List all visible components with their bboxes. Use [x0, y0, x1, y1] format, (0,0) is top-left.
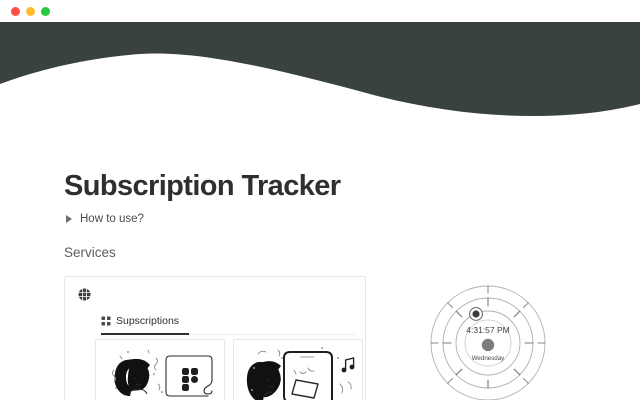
globe-icon	[77, 287, 92, 302]
clock-widget: 4:31:57 PM Wednesday	[408, 280, 568, 400]
clock-time-text: 4:31:57 PM	[466, 325, 509, 335]
figma-illustration	[96, 340, 224, 400]
service-embed-card: Supscriptions	[64, 276, 366, 400]
close-window-button[interactable]	[11, 7, 20, 16]
how-to-use-label: How to use?	[80, 213, 144, 225]
tab-bar-divider	[189, 334, 355, 335]
music-phone-illustration	[234, 340, 362, 400]
thumbnail-figma-illustration[interactable]	[95, 339, 225, 400]
how-to-use-toggle[interactable]: How to use?	[66, 213, 144, 225]
traffic-lights	[11, 7, 50, 16]
page-title: Subscription Tracker	[64, 170, 341, 203]
subscription-thumbnails	[95, 339, 363, 400]
window-titlebar	[0, 0, 640, 22]
clock-day-text: Wednesday	[472, 355, 505, 362]
section-heading-services: Services	[64, 245, 116, 260]
tab-supscriptions-label: Supscriptions	[116, 315, 179, 327]
thumbnail-music-phone-illustration[interactable]	[233, 339, 363, 400]
grid-icon	[101, 316, 111, 326]
page-content: Subscription Tracker How to use? Service…	[0, 0, 640, 400]
clock-orbit-dot	[472, 310, 479, 317]
card-tabs: Supscriptions	[101, 311, 365, 335]
triangle-right-icon	[66, 215, 72, 223]
maximize-window-button[interactable]	[41, 7, 50, 16]
tab-supscriptions[interactable]: Supscriptions	[101, 311, 179, 335]
clock-dial: 4:31:57 PM Wednesday	[408, 280, 568, 400]
tab-active-underline	[101, 333, 189, 335]
clock-center-dot	[482, 339, 494, 351]
minimize-window-button[interactable]	[26, 7, 35, 16]
app-window: Subscription Tracker How to use? Service…	[0, 0, 640, 400]
